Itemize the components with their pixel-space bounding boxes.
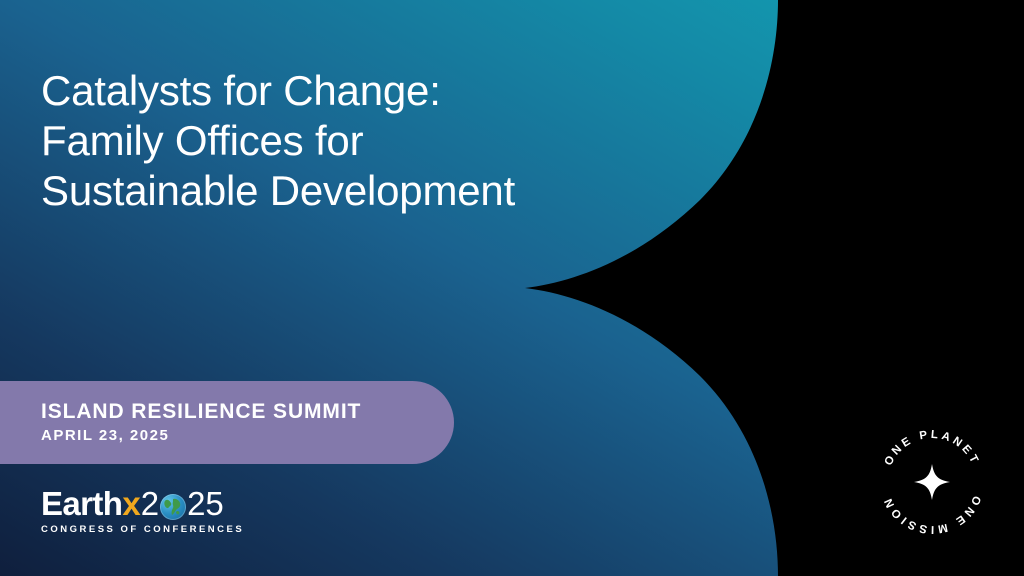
logo-tagline: CONGRESS OF CONFERENCES [41,524,244,535]
earthx-logo: Earth x 2 25 CONGRESS OF CONFERENCES [41,487,244,535]
globe-icon [160,494,186,520]
logo-word-earth: Earth [41,487,122,520]
logo-year-prefix: 2 [141,487,159,520]
one-planet-one-mission-seal: ONE PLANET ONE MISSION [868,418,996,546]
seal-top-text: ONE PLANET [883,429,982,468]
logo-wordmark: Earth x 2 25 [41,487,244,520]
slide-title: Catalysts for Change: Family Offices for… [41,66,641,216]
presentation-slide: Catalysts for Change: Family Offices for… [0,0,1024,576]
event-date: APRIL 23, 2025 [41,426,454,446]
event-name: ISLAND RESILIENCE SUMMIT [41,399,454,424]
four-point-star-icon [914,464,950,500]
logo-letter-x: x [122,487,140,520]
event-badge: ISLAND RESILIENCE SUMMIT APRIL 23, 2025 [0,381,454,464]
logo-year-suffix: 25 [187,487,224,520]
